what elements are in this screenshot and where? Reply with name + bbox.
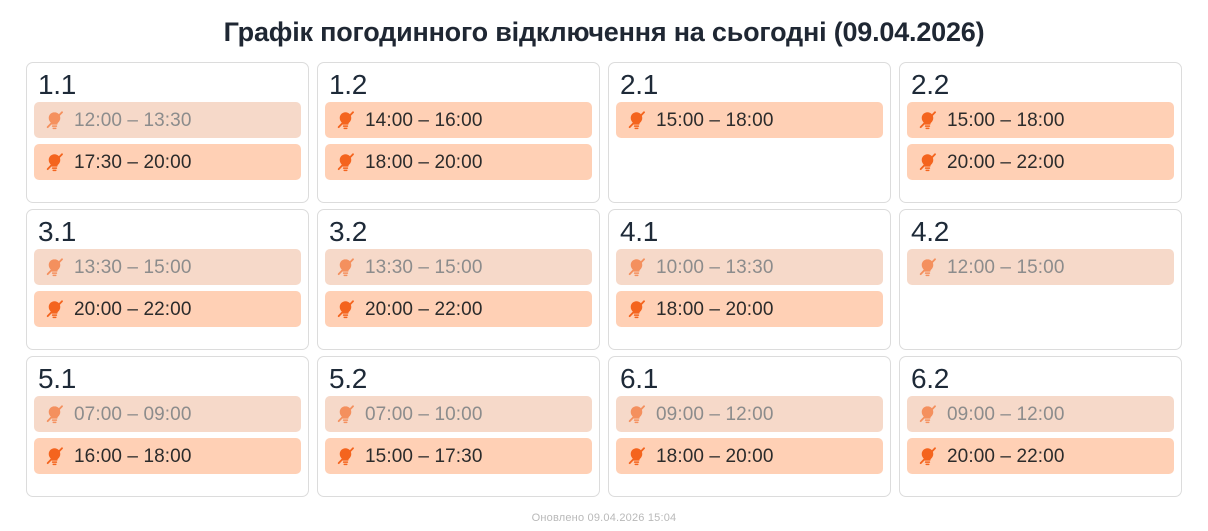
lightbulb-off-icon — [626, 299, 647, 320]
outage-slot-time: 09:00 – 12:00 — [947, 405, 1065, 424]
group-card[interactable]: 2.115:00 – 18:00 — [608, 62, 891, 203]
lightbulb-off-icon — [44, 446, 65, 467]
lightbulb-off-icon — [626, 257, 647, 278]
outage-slot-list: 13:30 – 15:0020:00 – 22:00 — [34, 249, 301, 327]
lightbulb-off-icon — [44, 257, 65, 278]
outage-slot-time: 09:00 – 12:00 — [656, 405, 774, 424]
outage-slot-time: 15:00 – 18:00 — [656, 111, 774, 130]
lightbulb-off-icon — [335, 299, 356, 320]
outage-slot-list: 09:00 – 12:0018:00 – 20:00 — [616, 396, 883, 474]
outage-slot-time: 20:00 – 22:00 — [947, 153, 1065, 172]
lightbulb-off-icon — [44, 152, 65, 173]
lightbulb-off-icon — [917, 446, 938, 467]
outage-slot-time: 15:00 – 18:00 — [947, 111, 1065, 130]
outage-slot[interactable]: 15:00 – 18:00 — [907, 102, 1174, 138]
outage-slot[interactable]: 18:00 – 20:00 — [616, 291, 883, 327]
outage-slot-list: 14:00 – 16:0018:00 – 20:00 — [325, 102, 592, 180]
group-card[interactable]: 4.212:00 – 15:00 — [899, 209, 1182, 350]
group-card[interactable]: 1.214:00 – 16:0018:00 – 20:00 — [317, 62, 600, 203]
lightbulb-off-icon — [917, 110, 938, 131]
group-label: 3.1 — [34, 216, 301, 249]
lightbulb-off-icon — [44, 404, 65, 425]
outage-slot[interactable]: 13:30 – 15:00 — [325, 249, 592, 285]
lightbulb-off-icon — [44, 299, 65, 320]
group-label: 5.2 — [325, 363, 592, 396]
group-card[interactable]: 6.209:00 – 12:0020:00 – 22:00 — [899, 356, 1182, 497]
outage-slot-list: 07:00 – 09:0016:00 – 18:00 — [34, 396, 301, 474]
outage-slot[interactable]: 09:00 – 12:00 — [907, 396, 1174, 432]
group-card[interactable]: 5.207:00 – 10:0015:00 – 17:30 — [317, 356, 600, 497]
outage-slot-list: 12:00 – 13:3017:30 – 20:00 — [34, 102, 301, 180]
group-label: 6.1 — [616, 363, 883, 396]
last-updated-label: Оновлено 09.04.2026 15:04 — [0, 512, 1208, 524]
outage-slot-time: 15:00 – 17:30 — [365, 447, 483, 466]
outage-slot[interactable]: 18:00 – 20:00 — [616, 438, 883, 474]
lightbulb-off-icon — [626, 110, 647, 131]
outage-slot[interactable]: 13:30 – 15:00 — [34, 249, 301, 285]
outage-slot-time: 16:00 – 18:00 — [74, 447, 192, 466]
outage-slot[interactable]: 17:30 – 20:00 — [34, 144, 301, 180]
outage-slot-time: 18:00 – 20:00 — [656, 447, 774, 466]
outage-slot-list: 10:00 – 13:3018:00 – 20:00 — [616, 249, 883, 327]
outage-slot[interactable]: 20:00 – 22:00 — [325, 291, 592, 327]
outage-slot[interactable]: 10:00 – 13:30 — [616, 249, 883, 285]
group-card[interactable]: 4.110:00 – 13:3018:00 – 20:00 — [608, 209, 891, 350]
outage-slot-time: 07:00 – 10:00 — [365, 405, 483, 424]
outage-slot[interactable]: 12:00 – 15:00 — [907, 249, 1174, 285]
outage-slot-time: 18:00 – 20:00 — [656, 300, 774, 319]
lightbulb-off-icon — [626, 446, 647, 467]
outage-slot[interactable]: 20:00 – 22:00 — [34, 291, 301, 327]
outage-slot[interactable]: 16:00 – 18:00 — [34, 438, 301, 474]
outage-schedule-grid: 1.112:00 – 13:3017:30 – 20:001.214:00 – … — [0, 62, 1208, 497]
outage-slot[interactable]: 07:00 – 10:00 — [325, 396, 592, 432]
group-label: 4.2 — [907, 216, 1174, 249]
group-card[interactable]: 3.113:30 – 15:0020:00 – 22:00 — [26, 209, 309, 350]
outage-slot-time: 10:00 – 13:30 — [656, 258, 774, 277]
lightbulb-off-icon — [335, 404, 356, 425]
group-label: 3.2 — [325, 216, 592, 249]
outage-slot-time: 18:00 – 20:00 — [365, 153, 483, 172]
outage-slot-time: 07:00 – 09:00 — [74, 405, 192, 424]
lightbulb-off-icon — [44, 110, 65, 131]
group-card[interactable]: 5.107:00 – 09:0016:00 – 18:00 — [26, 356, 309, 497]
lightbulb-off-icon — [917, 257, 938, 278]
outage-slot-time: 17:30 – 20:00 — [74, 153, 192, 172]
group-label: 1.1 — [34, 69, 301, 102]
lightbulb-off-icon — [335, 446, 356, 467]
outage-slot-time: 12:00 – 13:30 — [74, 111, 192, 130]
outage-slot-list: 13:30 – 15:0020:00 – 22:00 — [325, 249, 592, 327]
group-card[interactable]: 2.215:00 – 18:0020:00 – 22:00 — [899, 62, 1182, 203]
outage-slot-list: 15:00 – 18:0020:00 – 22:00 — [907, 102, 1174, 180]
outage-slot-list: 07:00 – 10:0015:00 – 17:30 — [325, 396, 592, 474]
group-card[interactable]: 6.109:00 – 12:0018:00 – 20:00 — [608, 356, 891, 497]
outage-slot-time: 20:00 – 22:00 — [74, 300, 192, 319]
group-label: 2.2 — [907, 69, 1174, 102]
group-label: 6.2 — [907, 363, 1174, 396]
outage-slot-list: 15:00 – 18:00 — [616, 102, 883, 138]
group-label: 1.2 — [325, 69, 592, 102]
outage-slot-time: 20:00 – 22:00 — [365, 300, 483, 319]
outage-slot-time: 12:00 – 15:00 — [947, 258, 1065, 277]
outage-slot[interactable]: 18:00 – 20:00 — [325, 144, 592, 180]
group-card[interactable]: 1.112:00 – 13:3017:30 – 20:00 — [26, 62, 309, 203]
outage-slot[interactable]: 15:00 – 17:30 — [325, 438, 592, 474]
outage-slot[interactable]: 12:00 – 13:30 — [34, 102, 301, 138]
lightbulb-off-icon — [626, 404, 647, 425]
outage-slot-time: 13:30 – 15:00 — [365, 258, 483, 277]
group-card[interactable]: 3.213:30 – 15:0020:00 – 22:00 — [317, 209, 600, 350]
outage-slot[interactable]: 15:00 – 18:00 — [616, 102, 883, 138]
outage-slot[interactable]: 20:00 – 22:00 — [907, 438, 1174, 474]
lightbulb-off-icon — [335, 257, 356, 278]
lightbulb-off-icon — [335, 110, 356, 131]
outage-slot-list: 12:00 – 15:00 — [907, 249, 1174, 285]
group-label: 4.1 — [616, 216, 883, 249]
outage-slot-list: 09:00 – 12:0020:00 – 22:00 — [907, 396, 1174, 474]
group-label: 5.1 — [34, 363, 301, 396]
lightbulb-off-icon — [335, 152, 356, 173]
outage-slot[interactable]: 20:00 – 22:00 — [907, 144, 1174, 180]
group-label: 2.1 — [616, 69, 883, 102]
lightbulb-off-icon — [917, 152, 938, 173]
outage-slot-time: 14:00 – 16:00 — [365, 111, 483, 130]
outage-slot-time: 20:00 – 22:00 — [947, 447, 1065, 466]
outage-slot[interactable]: 07:00 – 09:00 — [34, 396, 301, 432]
outage-slot[interactable]: 09:00 – 12:00 — [616, 396, 883, 432]
page-title: Графік погодинного відключення на сьогод… — [0, 0, 1208, 62]
outage-slot-time: 13:30 – 15:00 — [74, 258, 192, 277]
lightbulb-off-icon — [917, 404, 938, 425]
outage-slot[interactable]: 14:00 – 16:00 — [325, 102, 592, 138]
